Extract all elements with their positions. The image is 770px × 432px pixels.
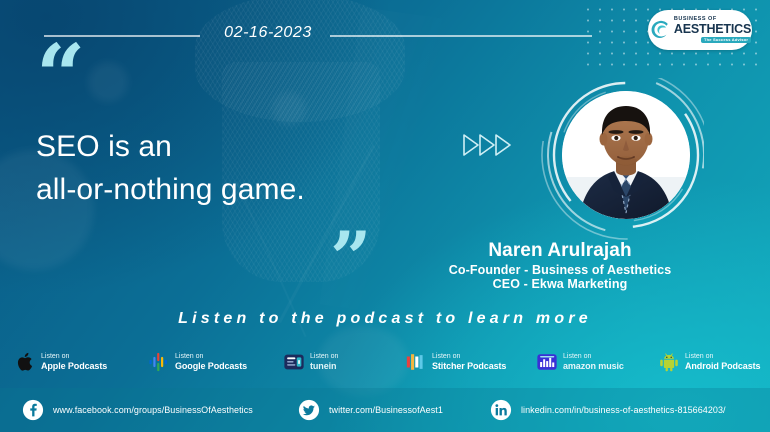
badge-line1: Listen on — [310, 353, 338, 361]
quote-line-2: all-or-nothing game. — [36, 169, 456, 212]
logo-line2: AESTHETICS — [674, 23, 751, 36]
badge-line1: Listen on — [563, 353, 624, 361]
badge-amazon-music[interactable]: Listen on amazon music — [536, 351, 624, 373]
badge-line2: Stitcher Podcasts — [432, 361, 506, 371]
badge-text: Listen on Stitcher Podcasts — [432, 353, 506, 371]
podcast-quote-card: 02-16-2023 BUSINESS OF AESTHETICS The Su… — [0, 0, 770, 432]
quote-text: SEO is an all-or-nothing game. — [36, 126, 456, 211]
linkedin-icon — [490, 399, 512, 421]
social-url-twitter: twitter.com/BusinessofAest1 — [329, 405, 443, 415]
tunein-icon — [283, 351, 305, 373]
podcast-tagline: Listen to the podcast to learn more — [0, 310, 770, 328]
header-rule-right — [330, 35, 592, 37]
logo-text: BUSINESS OF AESTHETICS The Success Advis… — [674, 17, 751, 43]
speaker-role-1: Co-Founder - Business of Aesthetics — [400, 263, 720, 277]
badge-text: Listen on Android Podcasts — [685, 353, 760, 371]
badge-text: Listen on Google Podcasts — [175, 353, 247, 371]
bg-blob — [272, 92, 306, 126]
logo-tagline-badge: The Success Advisor — [701, 37, 751, 43]
badge-google-podcasts[interactable]: Listen on Google Podcasts — [148, 351, 247, 373]
social-url-linkedin: linkedin.com/in/business-of-aesthetics-8… — [521, 405, 726, 415]
social-url-facebook: www.facebook.com/groups/BusinessOfAesthe… — [53, 405, 253, 415]
triple-chevron-right-icon — [462, 132, 514, 158]
business-of-aesthetics-logo[interactable]: BUSINESS OF AESTHETICS The Success Advis… — [648, 10, 752, 50]
avatar — [562, 91, 690, 219]
quote-open-mark: “ — [36, 34, 85, 120]
podcast-platform-badges: Listen on Apple Podcasts Listen on Googl… — [0, 344, 770, 380]
social-link-linkedin[interactable]: linkedin.com/in/business-of-aesthetics-8… — [490, 399, 726, 421]
aesthetics-swoosh-icon — [649, 19, 671, 41]
badge-line1: Listen on — [175, 353, 247, 361]
social-footer-bar: www.facebook.com/groups/BusinessOfAesthe… — [0, 388, 770, 432]
badge-text: Listen on Apple Podcasts — [41, 353, 107, 371]
badge-line2: amazon music — [563, 361, 624, 371]
badge-android-podcasts[interactable]: Listen on Android Podcasts — [658, 351, 760, 373]
badge-stitcher-podcasts[interactable]: Listen on Stitcher Podcasts — [405, 351, 506, 373]
portrait-illustration — [562, 91, 690, 219]
social-link-twitter[interactable]: twitter.com/BusinessofAest1 — [298, 399, 443, 421]
speaker-name: Naren Arulrajah — [400, 240, 720, 262]
badge-tunein[interactable]: Listen on tunein — [283, 351, 338, 373]
badge-line2: Google Podcasts — [175, 361, 247, 371]
apple-logo-icon — [14, 351, 36, 373]
badge-apple-podcasts[interactable]: Listen on Apple Podcasts — [14, 351, 107, 373]
speaker-portrait — [538, 78, 704, 244]
badge-line2: Android Podcasts — [685, 361, 760, 371]
quote-close-mark: ” — [330, 222, 371, 294]
badge-line2: tunein — [310, 361, 338, 371]
google-podcasts-icon — [148, 351, 170, 373]
badge-text: Listen on tunein — [310, 353, 338, 371]
badge-line1: Listen on — [685, 353, 760, 361]
facebook-icon — [22, 399, 44, 421]
twitter-icon — [298, 399, 320, 421]
badge-line1: Listen on — [41, 353, 107, 361]
badge-line2: Apple Podcasts — [41, 361, 107, 371]
episode-date: 02-16-2023 — [208, 24, 328, 42]
bg-blob — [88, 62, 128, 102]
quote-line-1: SEO is an — [36, 126, 456, 169]
android-robot-icon — [658, 351, 680, 373]
amazon-music-icon — [536, 351, 558, 373]
stitcher-icon — [405, 351, 427, 373]
social-link-facebook[interactable]: www.facebook.com/groups/BusinessOfAesthe… — [22, 399, 253, 421]
speaker-role-2: CEO - Ekwa Marketing — [400, 277, 720, 291]
badge-line1: Listen on — [432, 353, 506, 361]
badge-text: Listen on amazon music — [563, 353, 624, 371]
